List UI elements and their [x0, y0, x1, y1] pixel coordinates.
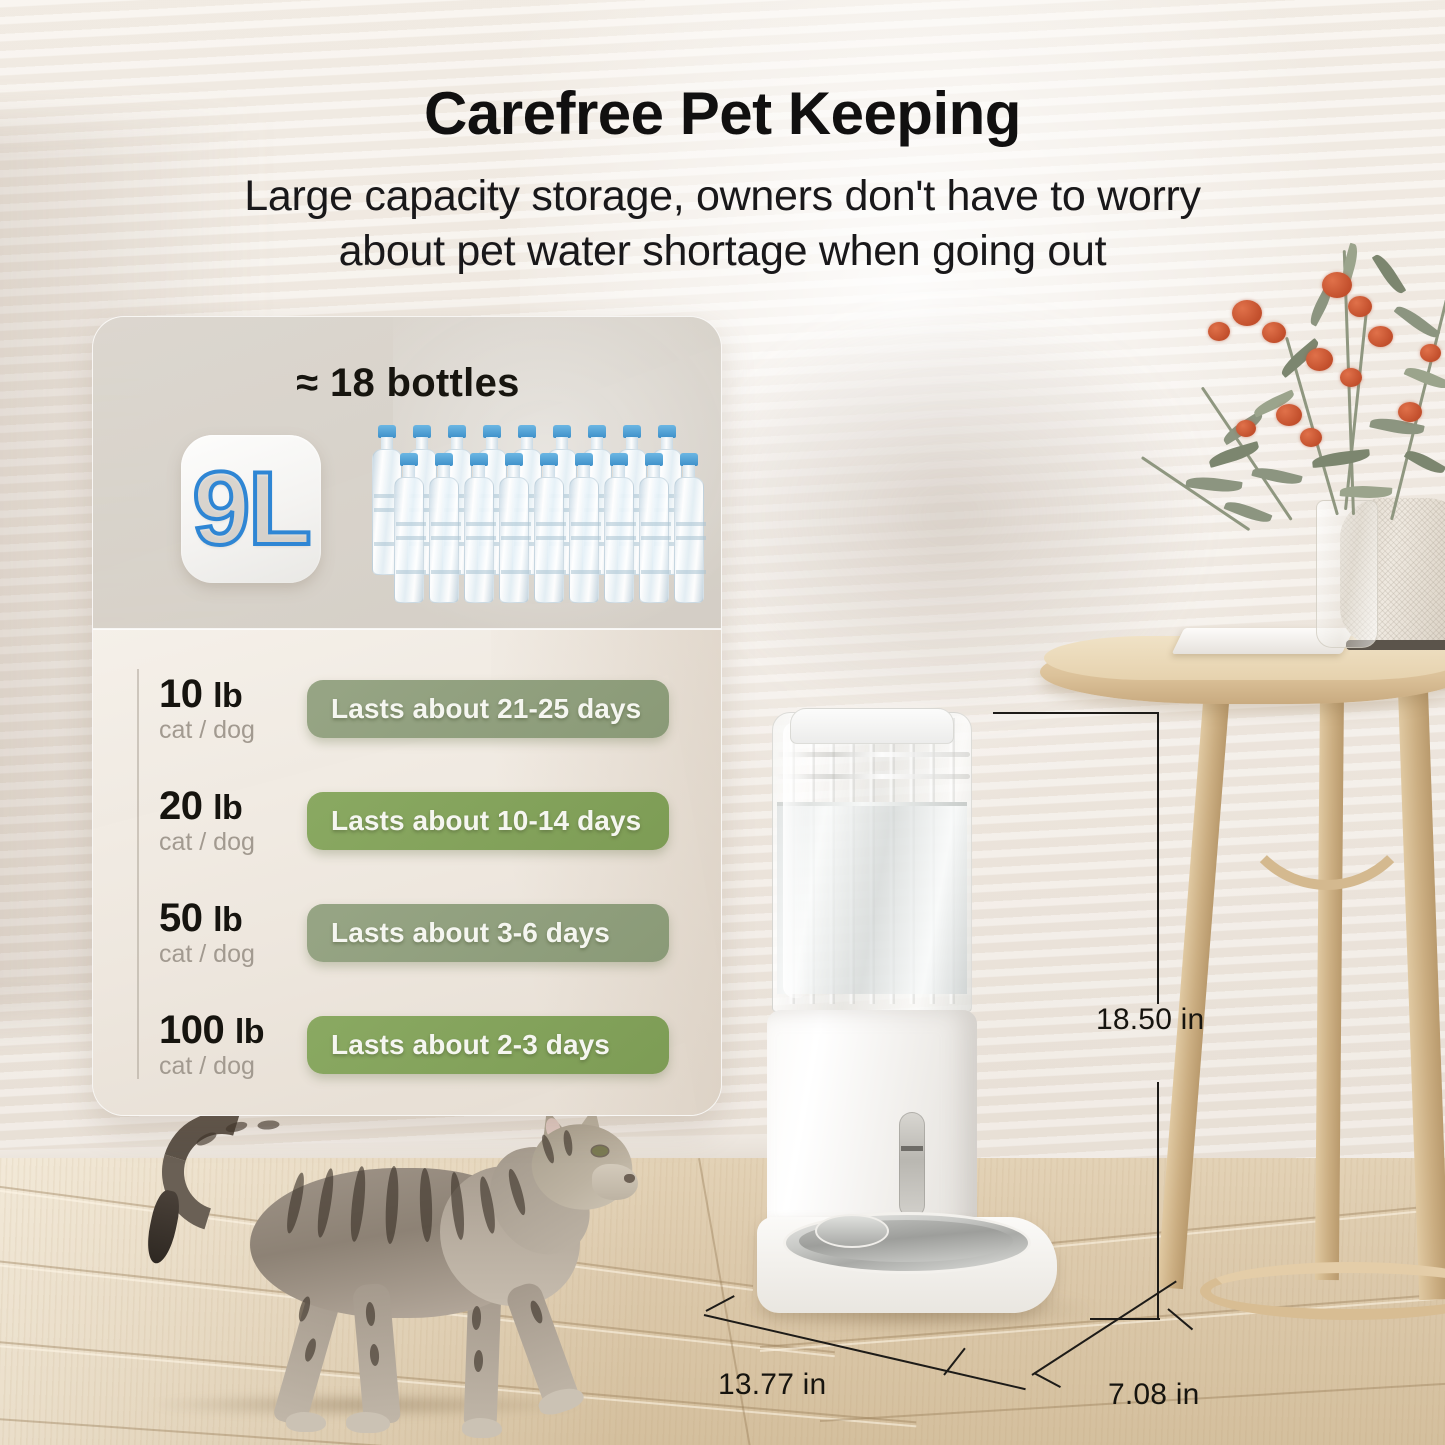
- capacity-duration-rows: 10 lbcat / dogLasts about 21-25 days20 l…: [137, 661, 697, 1109]
- bottle-body: [464, 477, 494, 603]
- water-bottle-illustration: [371, 425, 701, 605]
- water-bottle: [393, 453, 425, 603]
- dispenser-base-body: [767, 1010, 977, 1240]
- bottle-body: [394, 477, 424, 603]
- water-bottle: [673, 453, 705, 603]
- capacity-row: 100 lbcat / dogLasts about 2-3 days: [137, 997, 697, 1093]
- tank-cap: [790, 708, 954, 744]
- height-tick-bottom: [1090, 1318, 1160, 1320]
- header-block: Carefree Pet Keeping Large capacity stor…: [0, 80, 1445, 279]
- cat-nose: [624, 1174, 635, 1183]
- water-bottle: [533, 453, 565, 603]
- duration-pill: Lasts about 3-6 days: [307, 904, 669, 962]
- pet-weight-unit: lb: [213, 901, 242, 939]
- pet-type-label: cat / dog: [159, 829, 307, 857]
- capacity-badge: 9L: [181, 435, 321, 583]
- pet-weight-group: 100 lbcat / dog: [137, 1010, 307, 1080]
- pet-weight-group: 20 lbcat / dog: [137, 786, 307, 856]
- cat-paw-hind-far: [286, 1412, 326, 1432]
- height-dimension-label: 18.50 in: [1096, 1003, 1204, 1037]
- bottle-body: [429, 477, 459, 603]
- water-bottle: [638, 453, 670, 603]
- dispenser-level-window: [899, 1112, 925, 1218]
- cat-paw-hind-near: [346, 1412, 390, 1433]
- pet-water-dispenser: [755, 712, 1085, 1322]
- pet-type-label: cat / dog: [159, 1053, 307, 1081]
- pet-weight-unit: lb: [235, 1013, 264, 1051]
- level-window-marker: [901, 1146, 923, 1151]
- duration-pill: Lasts about 21-25 days: [307, 680, 669, 738]
- height-dimension-line-lower: [1157, 1082, 1159, 1320]
- page-subtitle: Large capacity storage, owners don't hav…: [0, 169, 1445, 279]
- cat-paw-fore-far: [462, 1418, 502, 1438]
- water-bottle: [463, 453, 495, 603]
- page-title: Carefree Pet Keeping: [0, 80, 1445, 147]
- water-bottle: [568, 453, 600, 603]
- cat-tail-tip: [143, 1188, 184, 1266]
- capacity-row: 20 lbcat / dogLasts about 10-14 days: [137, 773, 697, 869]
- pet-weight-unit: lb: [213, 677, 242, 715]
- tank-highlight: [783, 722, 809, 998]
- pet-weight-unit: lb: [213, 789, 242, 827]
- water-bottle: [428, 453, 460, 603]
- width-dimension-label: 13.77 in: [718, 1368, 826, 1402]
- bottle-body: [569, 477, 599, 603]
- capacity-info-card: ≈ 18 bottles 9L 10 lbcat / dogLasts abou…: [92, 316, 722, 1116]
- card-section-divider: [93, 628, 722, 630]
- water-bottle: [603, 453, 635, 603]
- pet-type-label: cat / dog: [159, 717, 307, 745]
- water-bottle: [498, 453, 530, 603]
- bottle-body: [499, 477, 529, 603]
- bottle-body: [604, 477, 634, 603]
- subtitle-line-1: Large capacity storage, owners don't hav…: [0, 169, 1445, 224]
- pet-weight-value: 20 lb: [159, 786, 307, 827]
- pet-weight-group: 50 lbcat / dog: [137, 898, 307, 968]
- depth-dimension-label: 7.08 in: [1108, 1378, 1199, 1412]
- pet-weight-value: 100 lb: [159, 1010, 307, 1051]
- height-dimension-line-upper: [1157, 712, 1159, 1004]
- bottle-body: [639, 477, 669, 603]
- bowl-water-outlet: [815, 1214, 889, 1248]
- table-brace: [1232, 700, 1422, 890]
- subtitle-line-2: about pet water shortage when going out: [0, 224, 1445, 279]
- height-tick-top: [993, 712, 1159, 714]
- capacity-row: 50 lbcat / dogLasts about 3-6 days: [137, 885, 697, 981]
- glass-vase: [1316, 500, 1378, 648]
- bottles-equivalent-headline: ≈ 18 bottles: [93, 361, 722, 406]
- pet-weight-group: 10 lbcat / dog: [137, 674, 307, 744]
- bottle-body: [674, 477, 704, 603]
- capacity-row: 10 lbcat / dogLasts about 21-25 days: [137, 661, 697, 757]
- duration-pill: Lasts about 10-14 days: [307, 792, 669, 850]
- duration-pill: Lasts about 2-3 days: [307, 1016, 669, 1074]
- pet-weight-value: 10 lb: [159, 674, 307, 715]
- cat-eye: [592, 1146, 608, 1156]
- pet-weight-value: 50 lb: [159, 898, 307, 939]
- pet-type-label: cat / dog: [159, 941, 307, 969]
- tabby-cat: [140, 1106, 660, 1445]
- capacity-badge-label: 9L: [192, 457, 309, 561]
- bottle-body: [534, 477, 564, 603]
